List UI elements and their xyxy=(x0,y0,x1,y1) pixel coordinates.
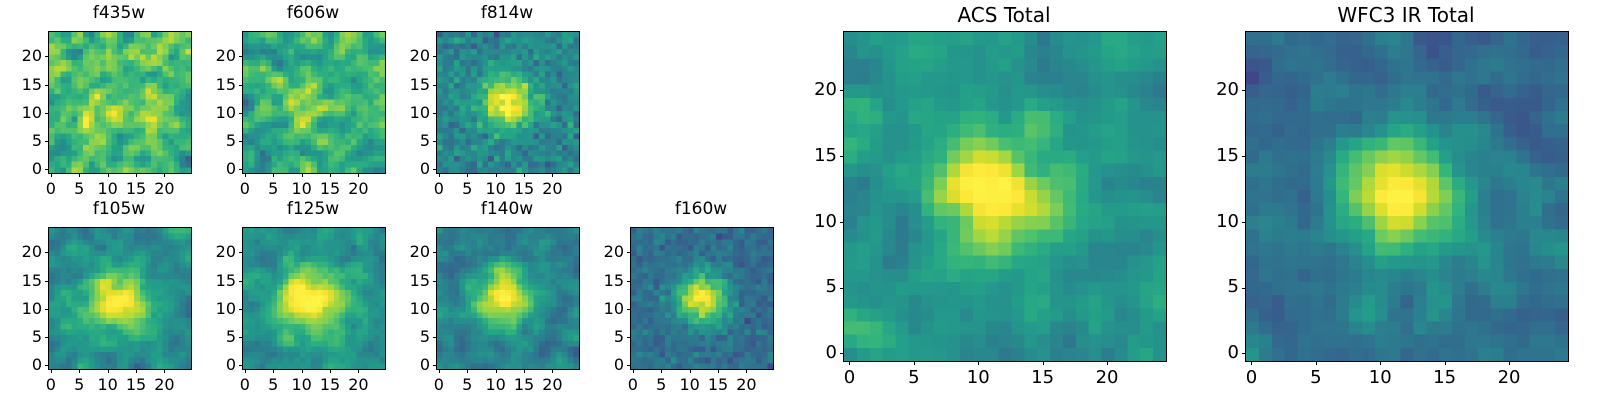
xtick-mark-acs-total-3 xyxy=(1043,361,1044,365)
ytick-mark-f814w-3 xyxy=(433,85,437,86)
ytick-label-f606w-0: 0 xyxy=(182,159,236,178)
ytick-mark-f105w-2 xyxy=(45,309,49,310)
panel-title-f105w: f105w xyxy=(48,199,190,219)
heatmap-wfc3-ir-total xyxy=(1245,31,1569,362)
xtick-mark-f814w-3 xyxy=(524,173,525,177)
xtick-mark-acs-total-1 xyxy=(914,361,915,365)
ytick-label-f125w-0: 0 xyxy=(182,355,236,374)
ytick-label-f606w-4: 20 xyxy=(182,46,236,65)
ytick-mark-f160w-0 xyxy=(627,365,631,366)
xtick-mark-f105w-3 xyxy=(136,369,137,373)
ytick-label-acs-total-3: 15 xyxy=(783,145,837,166)
panel-acs-total: ACS Total0510152005101520 xyxy=(783,3,1175,392)
xtick-mark-wfc3-ir-total-4 xyxy=(1509,361,1510,365)
ytick-mark-acs-total-0 xyxy=(840,353,844,354)
ytick-mark-f435w-2 xyxy=(45,113,49,114)
ytick-label-f814w-4: 20 xyxy=(376,46,430,65)
panel-f814w: f814w0510152005101520 xyxy=(376,3,588,204)
xtick-mark-f125w-2 xyxy=(302,369,303,373)
xtick-label-wfc3-ir-total-3: 15 xyxy=(1425,367,1465,388)
heatmap-f105w xyxy=(48,227,192,370)
xtick-label-f435w-4: 20 xyxy=(144,179,184,198)
panel-title-wfc3-ir-total: WFC3 IR Total xyxy=(1245,3,1567,27)
ytick-label-wfc3-ir-total-2: 10 xyxy=(1185,211,1239,232)
panel-title-f125w: f125w xyxy=(242,199,384,219)
xtick-mark-f160w-4 xyxy=(746,369,747,373)
ytick-label-f160w-2: 10 xyxy=(570,299,624,318)
ytick-mark-f125w-0 xyxy=(239,365,243,366)
heatmap-canvas-f606w xyxy=(243,32,385,173)
ytick-mark-f140w-2 xyxy=(433,309,437,310)
ytick-mark-f105w-4 xyxy=(45,252,49,253)
heatmap-canvas-f140w xyxy=(437,228,579,369)
xtick-label-acs-total-4: 20 xyxy=(1087,367,1127,388)
xtick-label-acs-total-2: 10 xyxy=(958,367,998,388)
ytick-mark-f160w-4 xyxy=(627,252,631,253)
xtick-label-f140w-4: 20 xyxy=(532,375,572,394)
xtick-mark-f814w-2 xyxy=(496,173,497,177)
ytick-label-acs-total-0: 0 xyxy=(783,342,837,363)
ytick-mark-wfc3-ir-total-1 xyxy=(1242,288,1246,289)
xtick-mark-acs-total-0 xyxy=(849,361,850,365)
xtick-label-acs-total-0: 0 xyxy=(829,367,869,388)
xtick-mark-f125w-1 xyxy=(273,369,274,373)
ytick-label-f160w-4: 20 xyxy=(570,242,624,261)
xtick-mark-f160w-3 xyxy=(718,369,719,373)
xtick-mark-f606w-0 xyxy=(245,173,246,177)
xtick-mark-acs-total-2 xyxy=(978,361,979,365)
heatmap-canvas-f814w xyxy=(437,32,579,173)
xtick-label-f606w-4: 20 xyxy=(338,179,378,198)
panel-f160w: f160w0510152005101520 xyxy=(570,199,782,400)
ytick-label-f105w-3: 15 xyxy=(0,271,42,290)
xtick-mark-f125w-0 xyxy=(245,369,246,373)
ytick-label-f814w-3: 15 xyxy=(376,75,430,94)
ytick-mark-f435w-0 xyxy=(45,169,49,170)
ytick-mark-f105w-3 xyxy=(45,281,49,282)
ytick-label-f435w-3: 15 xyxy=(0,75,42,94)
ytick-mark-f105w-0 xyxy=(45,365,49,366)
xtick-mark-f160w-1 xyxy=(661,369,662,373)
ytick-label-f606w-1: 5 xyxy=(182,131,236,150)
figure-canvas: f435w0510152005101520f606w05101520051015… xyxy=(0,0,1600,400)
panel-title-f140w: f140w xyxy=(436,199,578,219)
ytick-label-f814w-2: 10 xyxy=(376,103,430,122)
xtick-mark-f435w-0 xyxy=(51,173,52,177)
heatmap-f140w xyxy=(436,227,580,370)
xtick-mark-wfc3-ir-total-2 xyxy=(1380,361,1381,365)
panel-f125w: f125w0510152005101520 xyxy=(182,199,394,400)
ytick-mark-f125w-3 xyxy=(239,281,243,282)
ytick-label-f140w-2: 10 xyxy=(376,299,430,318)
xtick-mark-f105w-4 xyxy=(164,369,165,373)
panel-title-f435w: f435w xyxy=(48,3,190,23)
xtick-mark-f814w-4 xyxy=(552,173,553,177)
ytick-label-f125w-4: 20 xyxy=(182,242,236,261)
ytick-mark-f435w-4 xyxy=(45,56,49,57)
heatmap-canvas-f160w xyxy=(631,228,773,369)
ytick-label-f435w-4: 20 xyxy=(0,46,42,65)
ytick-mark-f606w-1 xyxy=(239,141,243,142)
ytick-mark-f125w-1 xyxy=(239,337,243,338)
xtick-mark-f606w-1 xyxy=(273,173,274,177)
xtick-label-f105w-4: 20 xyxy=(144,375,184,394)
xtick-mark-f125w-3 xyxy=(330,369,331,373)
ytick-label-f160w-1: 5 xyxy=(570,327,624,346)
xtick-label-acs-total-3: 15 xyxy=(1023,367,1063,388)
heatmap-f125w xyxy=(242,227,386,370)
ytick-label-f125w-3: 15 xyxy=(182,271,236,290)
panel-wfc3-ir-total: WFC3 IR Total0510152005101520 xyxy=(1185,3,1577,392)
ytick-mark-f160w-2 xyxy=(627,309,631,310)
ytick-label-f125w-2: 10 xyxy=(182,299,236,318)
ytick-label-f140w-1: 5 xyxy=(376,327,430,346)
xtick-mark-f435w-3 xyxy=(136,173,137,177)
xtick-mark-f606w-4 xyxy=(358,173,359,177)
ytick-mark-f606w-4 xyxy=(239,56,243,57)
xtick-mark-f140w-4 xyxy=(552,369,553,373)
ytick-mark-f160w-3 xyxy=(627,281,631,282)
xtick-mark-f140w-0 xyxy=(439,369,440,373)
ytick-label-f435w-2: 10 xyxy=(0,103,42,122)
xtick-mark-f105w-1 xyxy=(79,369,80,373)
ytick-label-acs-total-1: 5 xyxy=(783,276,837,297)
ytick-mark-f814w-2 xyxy=(433,113,437,114)
xtick-label-wfc3-ir-total-2: 10 xyxy=(1360,367,1400,388)
panel-f140w: f140w0510152005101520 xyxy=(376,199,588,400)
heatmap-canvas-f105w xyxy=(49,228,191,369)
ytick-label-f435w-0: 0 xyxy=(0,159,42,178)
ytick-mark-f125w-4 xyxy=(239,252,243,253)
xtick-mark-f435w-4 xyxy=(164,173,165,177)
ytick-label-f105w-4: 20 xyxy=(0,242,42,261)
panel-title-f814w: f814w xyxy=(436,3,578,23)
xtick-mark-f160w-2 xyxy=(690,369,691,373)
panel-f606w: f606w0510152005101520 xyxy=(182,3,394,204)
ytick-mark-wfc3-ir-total-3 xyxy=(1242,156,1246,157)
ytick-mark-wfc3-ir-total-0 xyxy=(1242,353,1246,354)
ytick-mark-acs-total-1 xyxy=(840,288,844,289)
ytick-mark-f435w-1 xyxy=(45,141,49,142)
xtick-mark-wfc3-ir-total-1 xyxy=(1316,361,1317,365)
xtick-mark-f606w-3 xyxy=(330,173,331,177)
ytick-label-f140w-4: 20 xyxy=(376,242,430,261)
ytick-label-acs-total-2: 10 xyxy=(783,211,837,232)
xtick-mark-f435w-2 xyxy=(108,173,109,177)
ytick-mark-f160w-1 xyxy=(627,337,631,338)
heatmap-f606w xyxy=(242,31,386,174)
heatmap-f814w xyxy=(436,31,580,174)
heatmap-f435w xyxy=(48,31,192,174)
xtick-mark-f140w-1 xyxy=(467,369,468,373)
ytick-label-f125w-1: 5 xyxy=(182,327,236,346)
ytick-label-f814w-1: 5 xyxy=(376,131,430,150)
ytick-mark-f125w-2 xyxy=(239,309,243,310)
ytick-label-acs-total-4: 20 xyxy=(783,79,837,100)
xtick-label-f814w-4: 20 xyxy=(532,179,572,198)
xtick-label-f160w-4: 20 xyxy=(726,375,766,394)
ytick-label-f105w-2: 10 xyxy=(0,299,42,318)
panel-title-acs-total: ACS Total xyxy=(843,3,1165,27)
ytick-mark-f814w-0 xyxy=(433,169,437,170)
panel-f435w: f435w0510152005101520 xyxy=(0,3,200,204)
xtick-label-wfc3-ir-total-1: 5 xyxy=(1296,367,1336,388)
ytick-label-f606w-2: 10 xyxy=(182,103,236,122)
ytick-mark-f435w-3 xyxy=(45,85,49,86)
ytick-mark-f140w-3 xyxy=(433,281,437,282)
xtick-mark-f105w-2 xyxy=(108,369,109,373)
xtick-mark-wfc3-ir-total-3 xyxy=(1445,361,1446,365)
ytick-label-wfc3-ir-total-4: 20 xyxy=(1185,79,1239,100)
xtick-label-acs-total-1: 5 xyxy=(894,367,934,388)
ytick-mark-f606w-0 xyxy=(239,169,243,170)
ytick-label-f435w-1: 5 xyxy=(0,131,42,150)
heatmap-canvas-wfc3-ir-total xyxy=(1246,32,1568,361)
ytick-label-f105w-1: 5 xyxy=(0,327,42,346)
ytick-label-f814w-0: 0 xyxy=(376,159,430,178)
ytick-label-wfc3-ir-total-1: 5 xyxy=(1185,276,1239,297)
ytick-mark-wfc3-ir-total-2 xyxy=(1242,222,1246,223)
ytick-mark-f814w-4 xyxy=(433,56,437,57)
panel-f105w: f105w0510152005101520 xyxy=(0,199,200,400)
ytick-label-wfc3-ir-total-3: 15 xyxy=(1185,145,1239,166)
xtick-label-f125w-4: 20 xyxy=(338,375,378,394)
xtick-mark-f125w-4 xyxy=(358,369,359,373)
heatmap-canvas-acs-total xyxy=(844,32,1166,361)
ytick-mark-f814w-1 xyxy=(433,141,437,142)
ytick-label-f160w-3: 15 xyxy=(570,271,624,290)
xtick-mark-f140w-2 xyxy=(496,369,497,373)
xtick-mark-f160w-0 xyxy=(633,369,634,373)
xtick-mark-f814w-0 xyxy=(439,173,440,177)
ytick-mark-f606w-2 xyxy=(239,113,243,114)
ytick-label-f606w-3: 15 xyxy=(182,75,236,94)
ytick-mark-f140w-1 xyxy=(433,337,437,338)
ytick-mark-f140w-4 xyxy=(433,252,437,253)
ytick-mark-acs-total-3 xyxy=(840,156,844,157)
ytick-mark-f105w-1 xyxy=(45,337,49,338)
xtick-mark-f814w-1 xyxy=(467,173,468,177)
panel-title-f606w: f606w xyxy=(242,3,384,23)
xtick-label-wfc3-ir-total-4: 20 xyxy=(1489,367,1529,388)
ytick-mark-acs-total-2 xyxy=(840,222,844,223)
xtick-mark-f435w-1 xyxy=(79,173,80,177)
ytick-mark-f140w-0 xyxy=(433,365,437,366)
ytick-label-wfc3-ir-total-0: 0 xyxy=(1185,342,1239,363)
xtick-mark-f140w-3 xyxy=(524,369,525,373)
xtick-mark-acs-total-4 xyxy=(1107,361,1108,365)
ytick-label-f140w-0: 0 xyxy=(376,355,430,374)
ytick-label-f140w-3: 15 xyxy=(376,271,430,290)
ytick-label-f160w-0: 0 xyxy=(570,355,624,374)
xtick-label-wfc3-ir-total-0: 0 xyxy=(1231,367,1271,388)
heatmap-acs-total xyxy=(843,31,1167,362)
xtick-mark-f606w-2 xyxy=(302,173,303,177)
ytick-mark-wfc3-ir-total-4 xyxy=(1242,90,1246,91)
heatmap-f160w xyxy=(630,227,774,370)
ytick-mark-acs-total-4 xyxy=(840,90,844,91)
xtick-mark-f105w-0 xyxy=(51,369,52,373)
panel-title-f160w: f160w xyxy=(630,199,772,219)
ytick-label-f105w-0: 0 xyxy=(0,355,42,374)
heatmap-canvas-f435w xyxy=(49,32,191,173)
ytick-mark-f606w-3 xyxy=(239,85,243,86)
heatmap-canvas-f125w xyxy=(243,228,385,369)
xtick-mark-wfc3-ir-total-0 xyxy=(1251,361,1252,365)
